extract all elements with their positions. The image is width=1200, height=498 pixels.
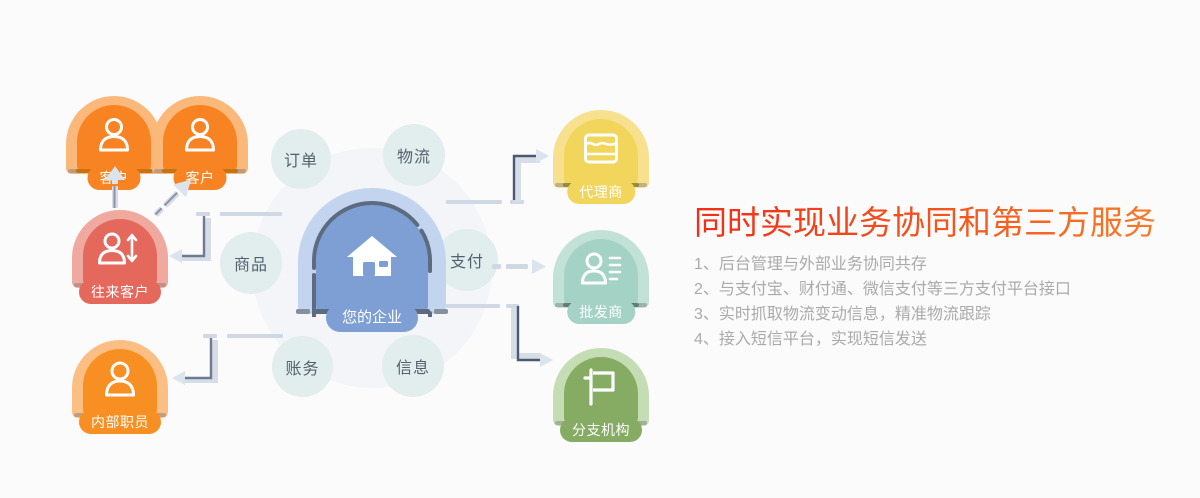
bubble-orders-label: 订单	[284, 147, 318, 171]
feature-list: 1、后台管理与外部业务协同共存 2、与支付宝、财付通、微信支付等三方支付平台接口…	[694, 252, 1184, 352]
basket-icon	[553, 110, 649, 188]
node-agent-pill: 代理商	[567, 180, 635, 204]
node-wholesaler-dome	[553, 230, 649, 308]
person-list-icon	[553, 230, 649, 308]
person-exchange-icon	[72, 210, 168, 288]
node-internal-staff[interactable]: 内部职员	[72, 340, 168, 418]
connector-to-branch-office	[444, 294, 564, 394]
bubble-accounting-label: 账务	[285, 355, 319, 379]
node-agent-label: 代理商	[579, 184, 623, 200]
node-agent-dome	[553, 110, 649, 188]
node-recurring-customer-pill: 往来客户	[79, 280, 161, 304]
node-wholesaler-label: 批发商	[579, 304, 623, 320]
bubble-information-label: 信息	[396, 354, 430, 378]
person-icon	[72, 340, 168, 418]
node-internal-staff-label: 内部职员	[91, 414, 149, 430]
node-recurring-customer-label: 往来客户	[91, 284, 149, 300]
node-wholesaler[interactable]: 批发商	[553, 230, 649, 308]
connector-to-agent	[444, 146, 560, 222]
page-title: 同时实现业务协同和第三方服务	[694, 202, 1184, 244]
bubble-logistics-label: 物流	[397, 143, 431, 167]
node-internal-staff-pill: 内部职员	[79, 410, 161, 434]
copy-block: 同时实现业务协同和第三方服务 1、后台管理与外部业务协同共存 2、与支付宝、财付…	[694, 202, 1184, 352]
infographic-canvas: 订单 物流 商品 支付 账务 信息 您的企业	[0, 0, 1200, 498]
connector-recurring-to-customer-1	[103, 164, 127, 212]
feature-item-1: 1、后台管理与外部业务协同共存	[694, 252, 1184, 277]
feature-item-4: 4、接入短信平台，实现短信发送	[694, 327, 1184, 352]
node-branch-office[interactable]: 分支机构	[553, 348, 649, 426]
connector-to-wholesaler	[492, 256, 554, 278]
node-recurring-customer[interactable]: 往来客户	[72, 210, 168, 288]
node-recurring-customer-dome	[72, 210, 168, 288]
node-branch-office-pill: 分支机构	[560, 418, 642, 442]
connector-recurring-to-customer-2	[148, 162, 212, 220]
node-branch-office-dome	[553, 348, 649, 426]
bubble-payment-label: 支付	[450, 248, 484, 272]
bubble-information: 信息	[382, 335, 444, 397]
feature-item-3: 3、实时抓取物流变动信息，精准物流跟踪	[694, 302, 1184, 327]
bubble-logistics: 物流	[383, 124, 445, 186]
node-branch-office-label: 分支机构	[572, 422, 630, 438]
node-internal-staff-dome	[72, 340, 168, 418]
node-agent[interactable]: 代理商	[553, 110, 649, 188]
hub-label: 您的企业	[342, 309, 402, 326]
flag-icon	[553, 348, 649, 426]
house-icon	[298, 202, 446, 310]
bubble-orders: 订单	[271, 129, 331, 189]
hub-label-pill: 您的企业	[326, 304, 418, 332]
hub-your-enterprise: 您的企业	[298, 188, 446, 336]
connector-to-internal-staff	[165, 324, 285, 410]
node-wholesaler-pill: 批发商	[567, 300, 635, 324]
feature-item-2: 2、与支付宝、财付通、微信支付等三方支付平台接口	[694, 277, 1184, 302]
